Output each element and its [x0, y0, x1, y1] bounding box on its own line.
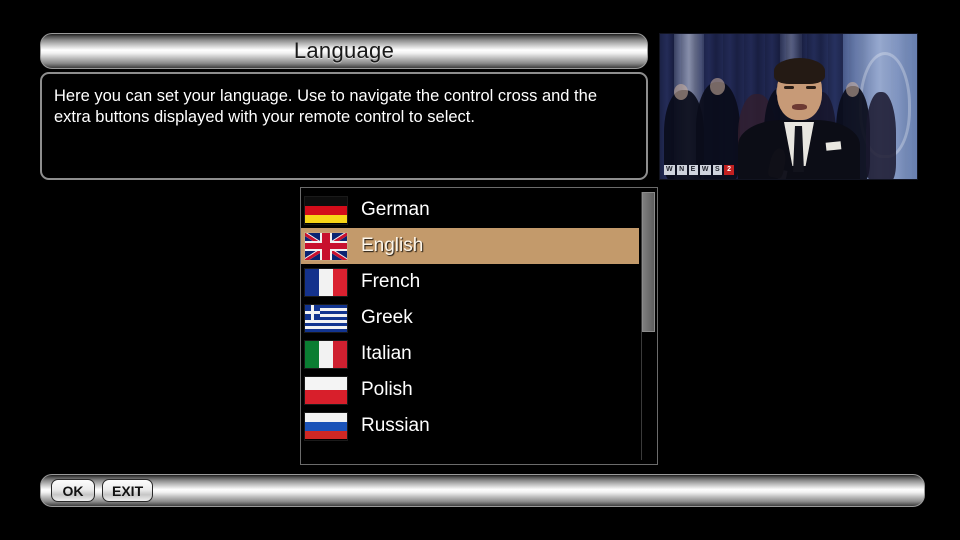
- flag-pl-icon: [305, 377, 347, 404]
- language-item-label: French: [361, 271, 420, 293]
- language-item-greek[interactable]: Greek: [301, 300, 639, 336]
- bug-segment: S: [713, 165, 722, 175]
- language-item-polish[interactable]: Polish: [301, 372, 639, 408]
- reporter-eye: [784, 86, 794, 89]
- scrollbar-track[interactable]: [641, 192, 654, 460]
- reporter-mouth: [792, 104, 807, 110]
- channel-logo-bug: W N E W S 2: [664, 165, 734, 175]
- reporter-pocket-square: [826, 141, 842, 151]
- osd-screen: Language Here you can set your language.…: [0, 0, 960, 540]
- help-text-box: Here you can set your language. Use to n…: [40, 72, 648, 180]
- flag-fr-icon: [305, 269, 347, 296]
- crowd-figure: [866, 92, 896, 180]
- flag-it-icon: [305, 341, 347, 368]
- exit-button-label: EXIT: [112, 483, 143, 499]
- language-item-label: Greek: [361, 307, 413, 329]
- page-title: Language: [294, 38, 394, 64]
- flag-ru-icon: [305, 413, 347, 440]
- flag-gr-icon: [305, 305, 347, 332]
- language-list: GermanEnglishFrenchGreekItalianPolishRus…: [301, 192, 639, 444]
- crowd-head: [674, 84, 688, 100]
- language-item-italian[interactable]: Italian: [301, 336, 639, 372]
- reporter-eye: [806, 86, 816, 89]
- softkey-bar: OK EXIT: [40, 474, 925, 507]
- language-item-label: Polish: [361, 379, 413, 401]
- scrollbar-thumb[interactable]: [642, 192, 655, 332]
- bug-segment: W: [700, 165, 711, 175]
- crowd-head: [710, 78, 725, 95]
- help-text: Here you can set your language. Use to n…: [54, 86, 634, 128]
- ok-button[interactable]: OK: [51, 479, 95, 502]
- language-item-label: Russian: [361, 415, 430, 437]
- ok-button-label: OK: [63, 483, 84, 499]
- language-list-panel: GermanEnglishFrenchGreekItalianPolishRus…: [300, 187, 658, 465]
- language-item-label: English: [361, 235, 423, 257]
- bug-segment: N: [677, 165, 687, 175]
- title-bar: Language: [40, 33, 648, 69]
- language-item-label: German: [361, 199, 430, 221]
- crowd-head: [846, 82, 859, 97]
- language-item-russian[interactable]: Russian: [301, 408, 639, 444]
- language-item-label: Italian: [361, 343, 412, 365]
- bug-segment: E: [689, 165, 698, 175]
- language-item-german[interactable]: German: [301, 192, 639, 228]
- bug-badge: 2: [724, 165, 734, 175]
- flag-gb-icon: [305, 233, 347, 260]
- flag-de-icon: [305, 197, 347, 224]
- bug-segment: W: [664, 165, 675, 175]
- language-item-english[interactable]: English: [301, 228, 639, 264]
- reporter-hair: [774, 58, 825, 84]
- exit-button[interactable]: EXIT: [102, 479, 153, 502]
- language-item-french[interactable]: French: [301, 264, 639, 300]
- live-tv-preview[interactable]: W N E W S 2: [659, 33, 918, 180]
